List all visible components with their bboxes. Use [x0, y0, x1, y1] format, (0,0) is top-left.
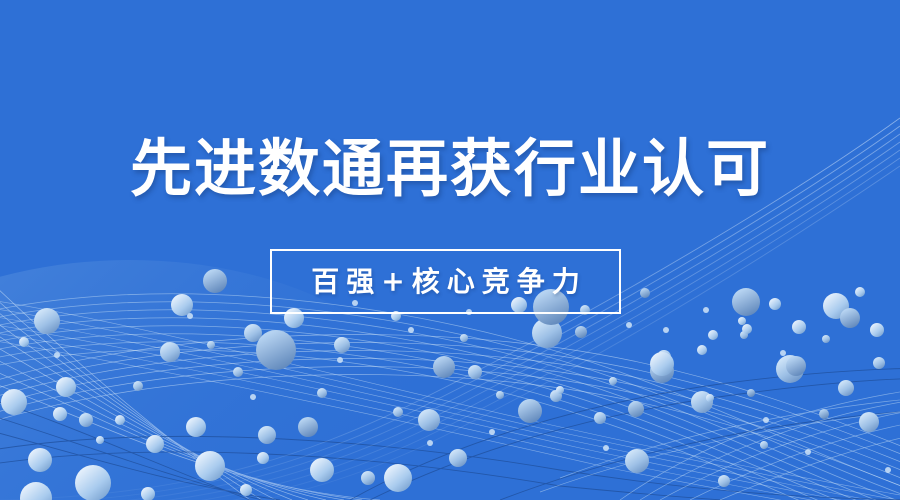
banner-content: 先进数通再获行业认可 百强+核心竞争力	[0, 0, 900, 500]
page-title: 先进数通再获行业认可	[0, 133, 900, 205]
subtitle-frame: 百强+核心竞争力	[270, 249, 621, 314]
promo-banner: 先进数通再获行业认可 百强+核心竞争力	[0, 0, 900, 500]
subtitle-text: 百强+核心竞争力	[304, 267, 586, 297]
